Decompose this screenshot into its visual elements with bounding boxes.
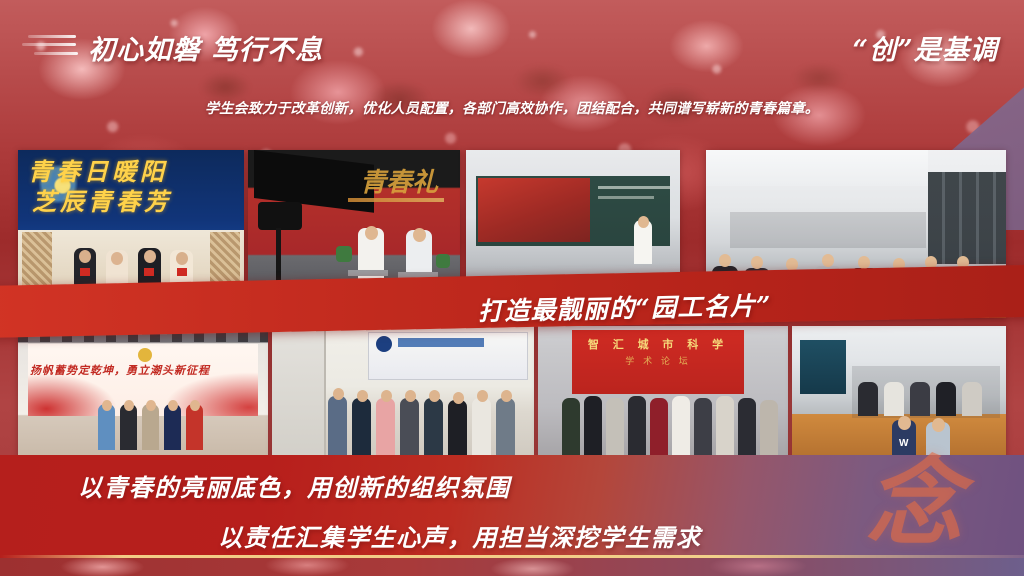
page-title-right: “创”是基调 <box>852 28 998 67</box>
page-title-left: 初心如磐 笃行不息 <box>88 28 323 67</box>
photo-7-backdrop-title: 智 汇 城 市 科 学 <box>578 336 738 352</box>
presentation-slide: 初心如磐 笃行不息 “创”是基调 学生会致力于改革创新，优化人员配置，各部门高效… <box>0 0 1024 576</box>
foliage-shadow-overlay <box>0 0 1024 150</box>
photo-7-backdrop-sub: 学 术 论 坛 <box>598 354 718 367</box>
photo-group-portrait-lab <box>272 326 534 460</box>
header-subtitle: 学生会致力于改革创新，优化人员配置，各部门高效协作，团结配合，共同谱写崭新的青春… <box>0 98 1024 118</box>
middle-band-slogan: 打造最靓丽的“园工名片” <box>478 286 772 328</box>
photo-group-red-backdrop: 智 汇 城 市 科 学 学 术 论 坛 <box>538 326 788 460</box>
photo-5-banner-text: 扬帆蓄势定乾坤，勇立潮头新征程 <box>30 362 256 378</box>
bottom-slogan-line-1: 以青春的亮丽底色，用创新的组织氛围 <box>78 468 510 503</box>
photo-2-wall-text: 青春礼 <box>360 162 438 199</box>
photo-packed-classroom: W <box>792 326 1006 460</box>
three-stroke-mark-icon <box>18 33 76 59</box>
bottom-slogan-line-2: 以责任汇集学生心声，用担当深挖学生需求 <box>218 518 701 553</box>
bottom-floral-sliver <box>0 558 1024 576</box>
photo-theme-event-stage: 扬帆蓄势定乾坤，勇立潮头新征程 <box>18 326 268 460</box>
photo-1-banner-line-2: 芝辰青春芳 <box>32 182 172 217</box>
